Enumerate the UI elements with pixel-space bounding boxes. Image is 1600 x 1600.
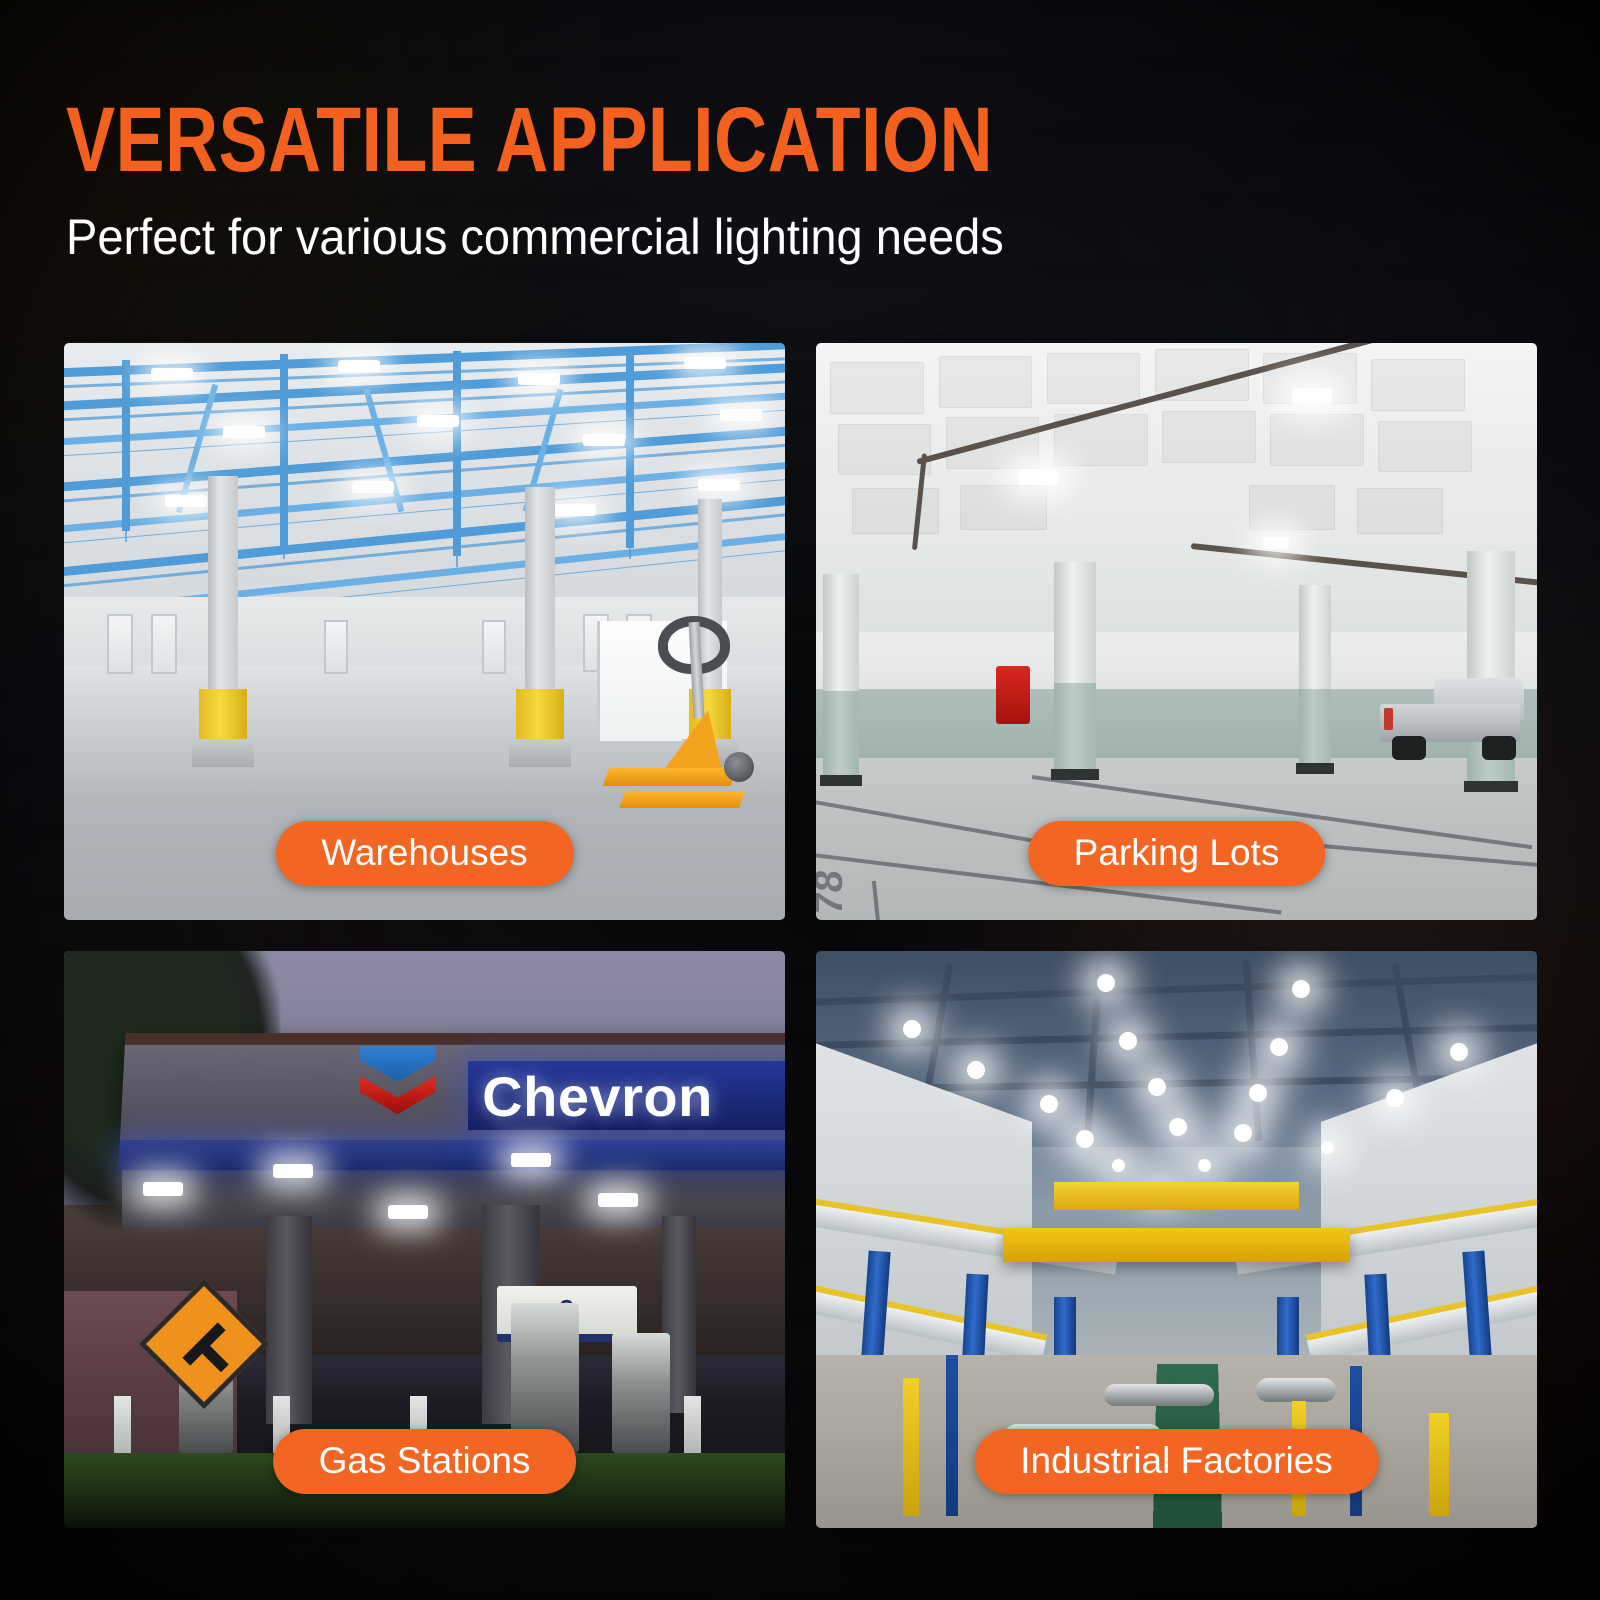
panel-warehouse[interactable]: Warehouses bbox=[64, 343, 785, 920]
overhead-gantry-crane bbox=[1003, 1228, 1349, 1262]
panel-label-warehouses[interactable]: Warehouses bbox=[275, 821, 573, 886]
ceiling-light bbox=[1263, 537, 1289, 549]
high-bay-light bbox=[903, 1020, 921, 1038]
high-bay-light bbox=[1198, 1159, 1211, 1172]
high-bay-light bbox=[1386, 1089, 1404, 1107]
panel-label-parking-lots[interactable]: Parking Lots bbox=[1028, 821, 1326, 886]
canopy-pillar bbox=[266, 1216, 312, 1424]
high-bay-light bbox=[1292, 980, 1310, 998]
crane-bridge-upper bbox=[1054, 1182, 1299, 1210]
canopy-light bbox=[143, 1182, 183, 1196]
factory-equipment bbox=[1429, 1413, 1449, 1517]
canopy-light bbox=[598, 1193, 638, 1207]
high-bay-light bbox=[1270, 1038, 1288, 1056]
parked-pickup-truck bbox=[1380, 678, 1530, 760]
panel-gas-station[interactable]: Chevron 3 Gas Stations bbox=[64, 951, 785, 1528]
chevron-logo-icon bbox=[360, 1046, 436, 1114]
high-bay-light bbox=[1148, 1078, 1166, 1096]
panel-industrial-factory[interactable]: Industrial Factories bbox=[816, 951, 1537, 1528]
ceiling-light bbox=[1292, 388, 1332, 404]
header: VERSATILE APPLICATION Perfect for variou… bbox=[66, 96, 1266, 265]
factory-equipment bbox=[946, 1355, 958, 1517]
canopy-light bbox=[511, 1153, 551, 1167]
warehouse-column bbox=[525, 487, 555, 741]
high-bay-light bbox=[1249, 1084, 1267, 1102]
ceiling-light bbox=[1018, 469, 1058, 485]
factory-equipment bbox=[903, 1378, 919, 1516]
canopy-light bbox=[388, 1205, 428, 1219]
chevron-brand-text: Chevron bbox=[482, 1064, 713, 1129]
warehouse-column bbox=[208, 476, 238, 741]
panel-label-gas-stations[interactable]: Gas Stations bbox=[273, 1429, 577, 1494]
panel-parking-lot[interactable]: 78 Parking Lots bbox=[816, 343, 1537, 920]
page-title: VERSATILE APPLICATION bbox=[66, 96, 1026, 184]
canopy-light bbox=[273, 1164, 313, 1178]
pallet-jack bbox=[613, 622, 763, 822]
parking-ceiling bbox=[816, 343, 1537, 666]
high-bay-light bbox=[1076, 1130, 1094, 1148]
parking-column bbox=[823, 574, 859, 776]
parking-column bbox=[1299, 585, 1331, 764]
warehouse-ceiling bbox=[64, 343, 785, 620]
pressure-vessel bbox=[1104, 1384, 1214, 1406]
high-bay-light bbox=[1119, 1032, 1137, 1050]
parking-column bbox=[1054, 562, 1096, 770]
page-subtitle: Perfect for various commercial lighting … bbox=[66, 210, 1194, 265]
panel-label-industrial-factories[interactable]: Industrial Factories bbox=[974, 1429, 1379, 1494]
parking-bay-number: 78 bbox=[816, 868, 852, 917]
high-bay-light bbox=[967, 1061, 985, 1079]
fire-hose-cabinet bbox=[996, 666, 1030, 724]
pressure-vessel bbox=[1256, 1378, 1336, 1402]
application-photo-grid: Warehouses bbox=[64, 343, 1537, 1529]
high-bay-light bbox=[1112, 1159, 1125, 1172]
fuel-pump bbox=[612, 1333, 670, 1453]
high-bay-light bbox=[1040, 1095, 1058, 1113]
